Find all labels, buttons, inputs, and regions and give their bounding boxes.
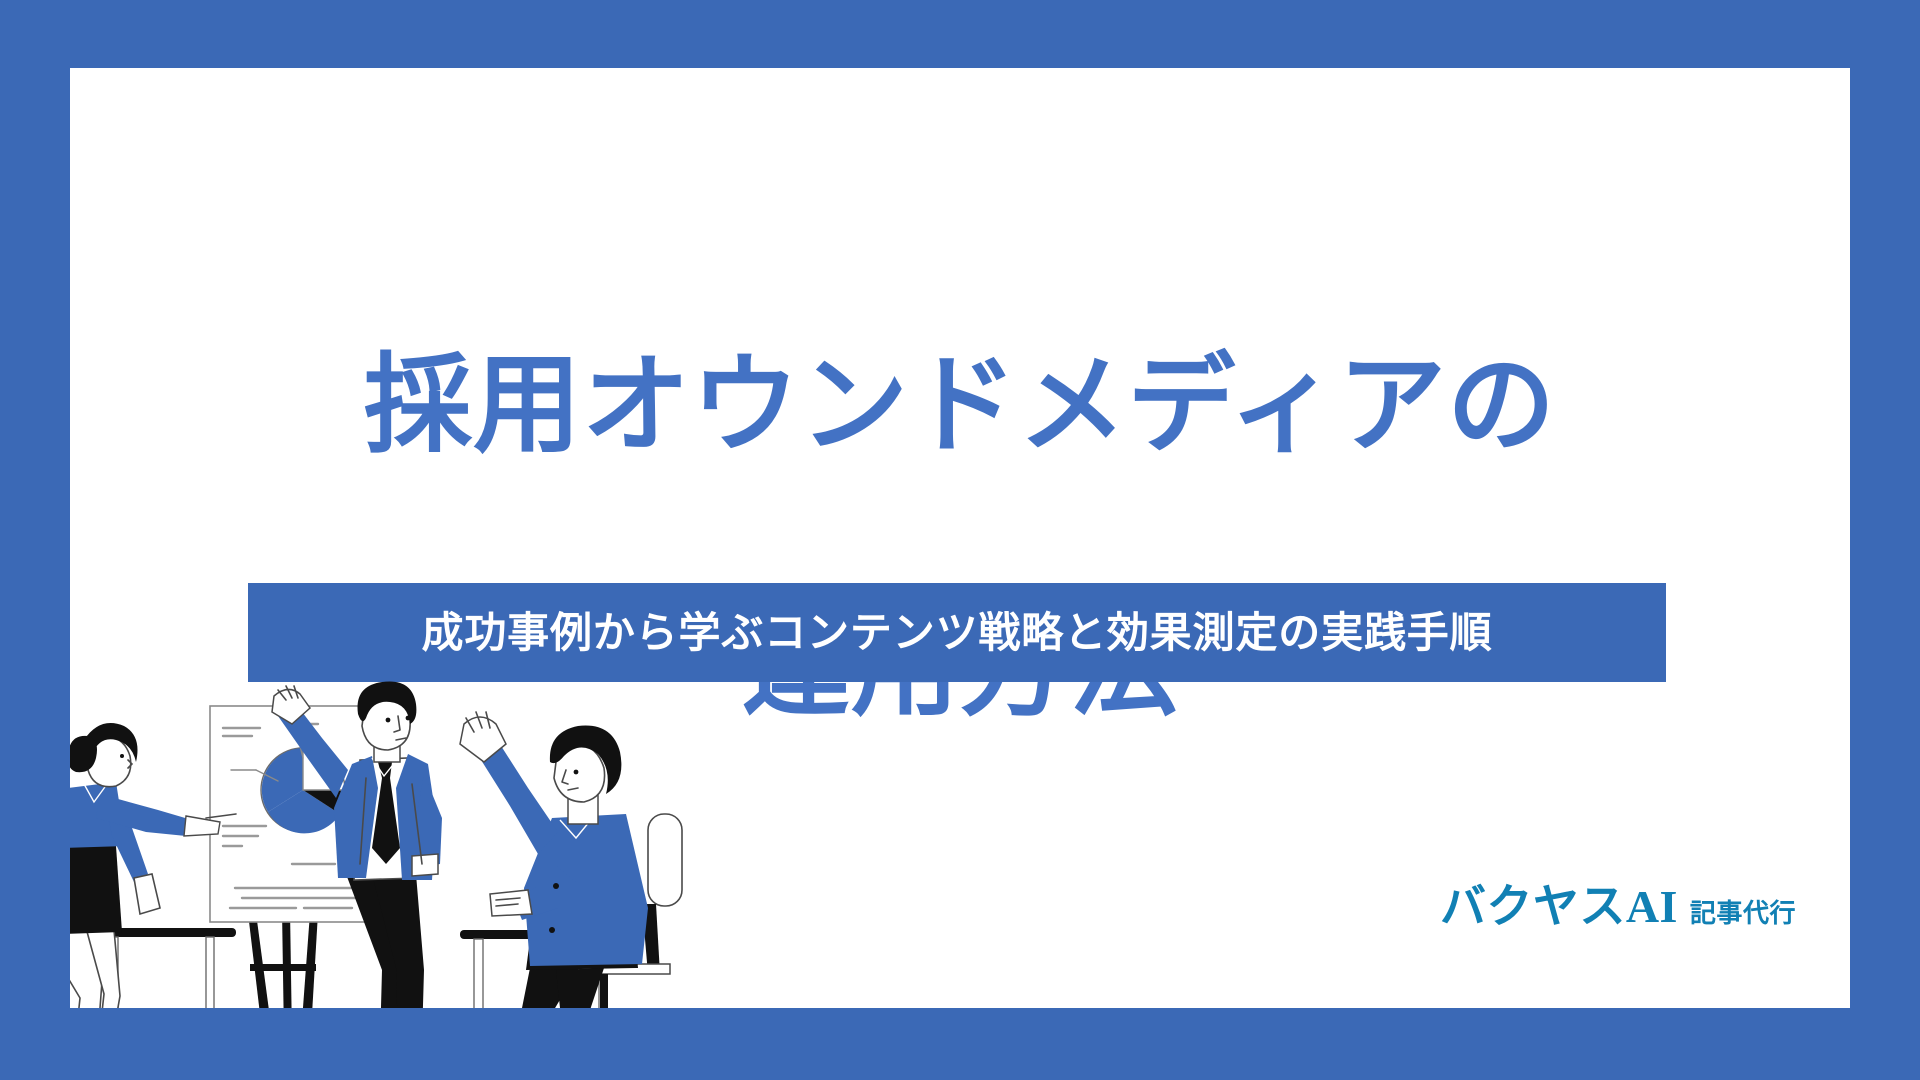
brand-logo-tagline: 記事代行 bbox=[1690, 901, 1796, 927]
desk-right bbox=[460, 930, 620, 1008]
brand-logo: バクヤスAI 記事代行 bbox=[1440, 884, 1796, 930]
subtitle-text: 成功事例から学ぶコンテンツ戦略と効果測定の実践手順 bbox=[421, 612, 1492, 654]
slide-card: 採用オウンドメディアの 運用方法 成功事例から学ぶコンテンツ戦略と効果測定の実践… bbox=[70, 68, 1850, 1008]
subtitle-bar: 成功事例から学ぶコンテンツ戦略と効果測定の実践手順 bbox=[248, 583, 1666, 682]
desk-left bbox=[96, 928, 236, 1008]
page-title-line-1: 採用オウンドメディアの bbox=[70, 340, 1850, 472]
brand-logo-name: バクヤスAI bbox=[1440, 884, 1678, 930]
page-title: 採用オウンドメディアの 運用方法 bbox=[70, 208, 1850, 867]
slide-root: 採用オウンドメディアの 運用方法 成功事例から学ぶコンテンツ戦略と効果測定の実践… bbox=[0, 0, 1920, 1080]
